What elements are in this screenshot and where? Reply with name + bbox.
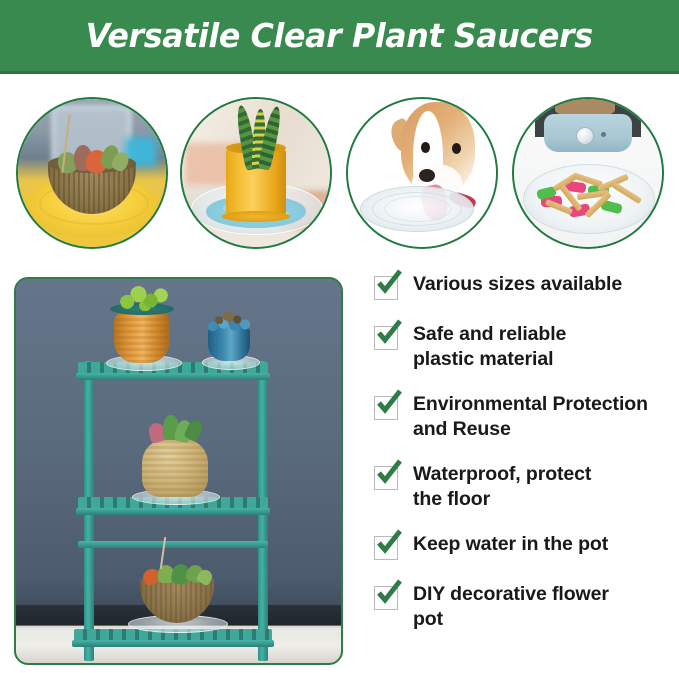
feature-line: Environmental Protection	[413, 392, 648, 417]
feature-line: Various sizes available	[413, 272, 622, 297]
feature-line: Safe and reliable	[413, 322, 566, 347]
feature-line: and Reuse	[413, 417, 648, 442]
header-banner: Versatile Clear Plant Saucers	[0, 0, 679, 74]
feature-label: Various sizes available	[413, 272, 622, 297]
cracker	[612, 182, 642, 204]
checkbox-icon	[374, 276, 398, 300]
succulent-arrangement	[142, 559, 214, 585]
check-icon	[374, 578, 404, 608]
feature-item-various-sizes: Various sizes available	[374, 272, 674, 300]
feature-item-environmental: Environmental Protection and Reuse	[374, 392, 674, 442]
feature-line: Waterproof, protect	[413, 462, 591, 487]
orange-jar-pot	[114, 309, 170, 363]
succulent-plant	[116, 285, 172, 311]
feature-list: Various sizes available Safe and reliabl…	[374, 272, 674, 650]
feature-label: Safe and reliable plastic material	[413, 322, 566, 372]
snake-plant	[238, 105, 282, 170]
check-icon	[374, 268, 404, 298]
circle-snack-tray-art	[514, 99, 662, 247]
feature-line: pot	[413, 607, 609, 632]
feature-line: DIY decorative flower	[413, 582, 609, 607]
circle-snack-tray	[512, 97, 664, 249]
tan-ribbed-pot	[142, 439, 208, 497]
feature-label: Environmental Protection and Reuse	[413, 392, 648, 442]
checkbox-icon	[374, 396, 398, 420]
page-title: Versatile Clear Plant Saucers	[86, 16, 593, 55]
circle-yellow-pot-art	[182, 99, 330, 247]
feature-line: plastic material	[413, 347, 566, 372]
circle-dog-drinking-art	[348, 99, 496, 247]
shelf-middle-edge	[76, 508, 270, 515]
shelf-bottom-edge	[72, 640, 274, 647]
plant-stand-photo	[14, 277, 343, 665]
feature-item-safe-material: Safe and reliable plastic material	[374, 322, 674, 372]
circle-dog-drinking	[346, 97, 498, 249]
dog-eye	[421, 142, 431, 153]
feature-line: Keep water in the pot	[413, 532, 608, 557]
feature-label: Waterproof, protect the floor	[413, 462, 591, 512]
shelf-top-edge	[76, 373, 270, 380]
feature-item-diy-decorative: DIY decorative flower pot	[374, 582, 674, 632]
snacks	[535, 176, 642, 223]
dog-nose	[419, 169, 435, 182]
check-icon	[374, 458, 404, 488]
feature-line: the floor	[413, 487, 591, 512]
circle-succulent-bowl-art	[18, 99, 166, 247]
circle-photo-row	[0, 92, 679, 257]
feature-item-keep-water: Keep water in the pot	[374, 532, 674, 560]
circle-yellow-pot	[180, 97, 332, 249]
feature-item-waterproof: Waterproof, protect the floor	[374, 462, 674, 512]
checkbox-icon	[374, 586, 398, 610]
circle-succulent-bowl	[16, 97, 168, 249]
check-icon	[374, 388, 404, 418]
succulent-plant	[212, 309, 248, 325]
yellow-pot-base	[222, 211, 290, 221]
stand-rail	[78, 541, 268, 548]
check-icon	[374, 528, 404, 558]
feature-label: DIY decorative flower pot	[413, 582, 609, 632]
checkbox-icon	[374, 326, 398, 350]
succulent-cluster	[56, 135, 130, 173]
feature-label: Keep water in the pot	[413, 532, 608, 557]
check-icon	[374, 318, 404, 348]
succulent-plant	[144, 413, 206, 443]
saucer-ring	[384, 196, 451, 222]
checkbox-icon	[374, 536, 398, 560]
checkbox-icon	[374, 466, 398, 490]
